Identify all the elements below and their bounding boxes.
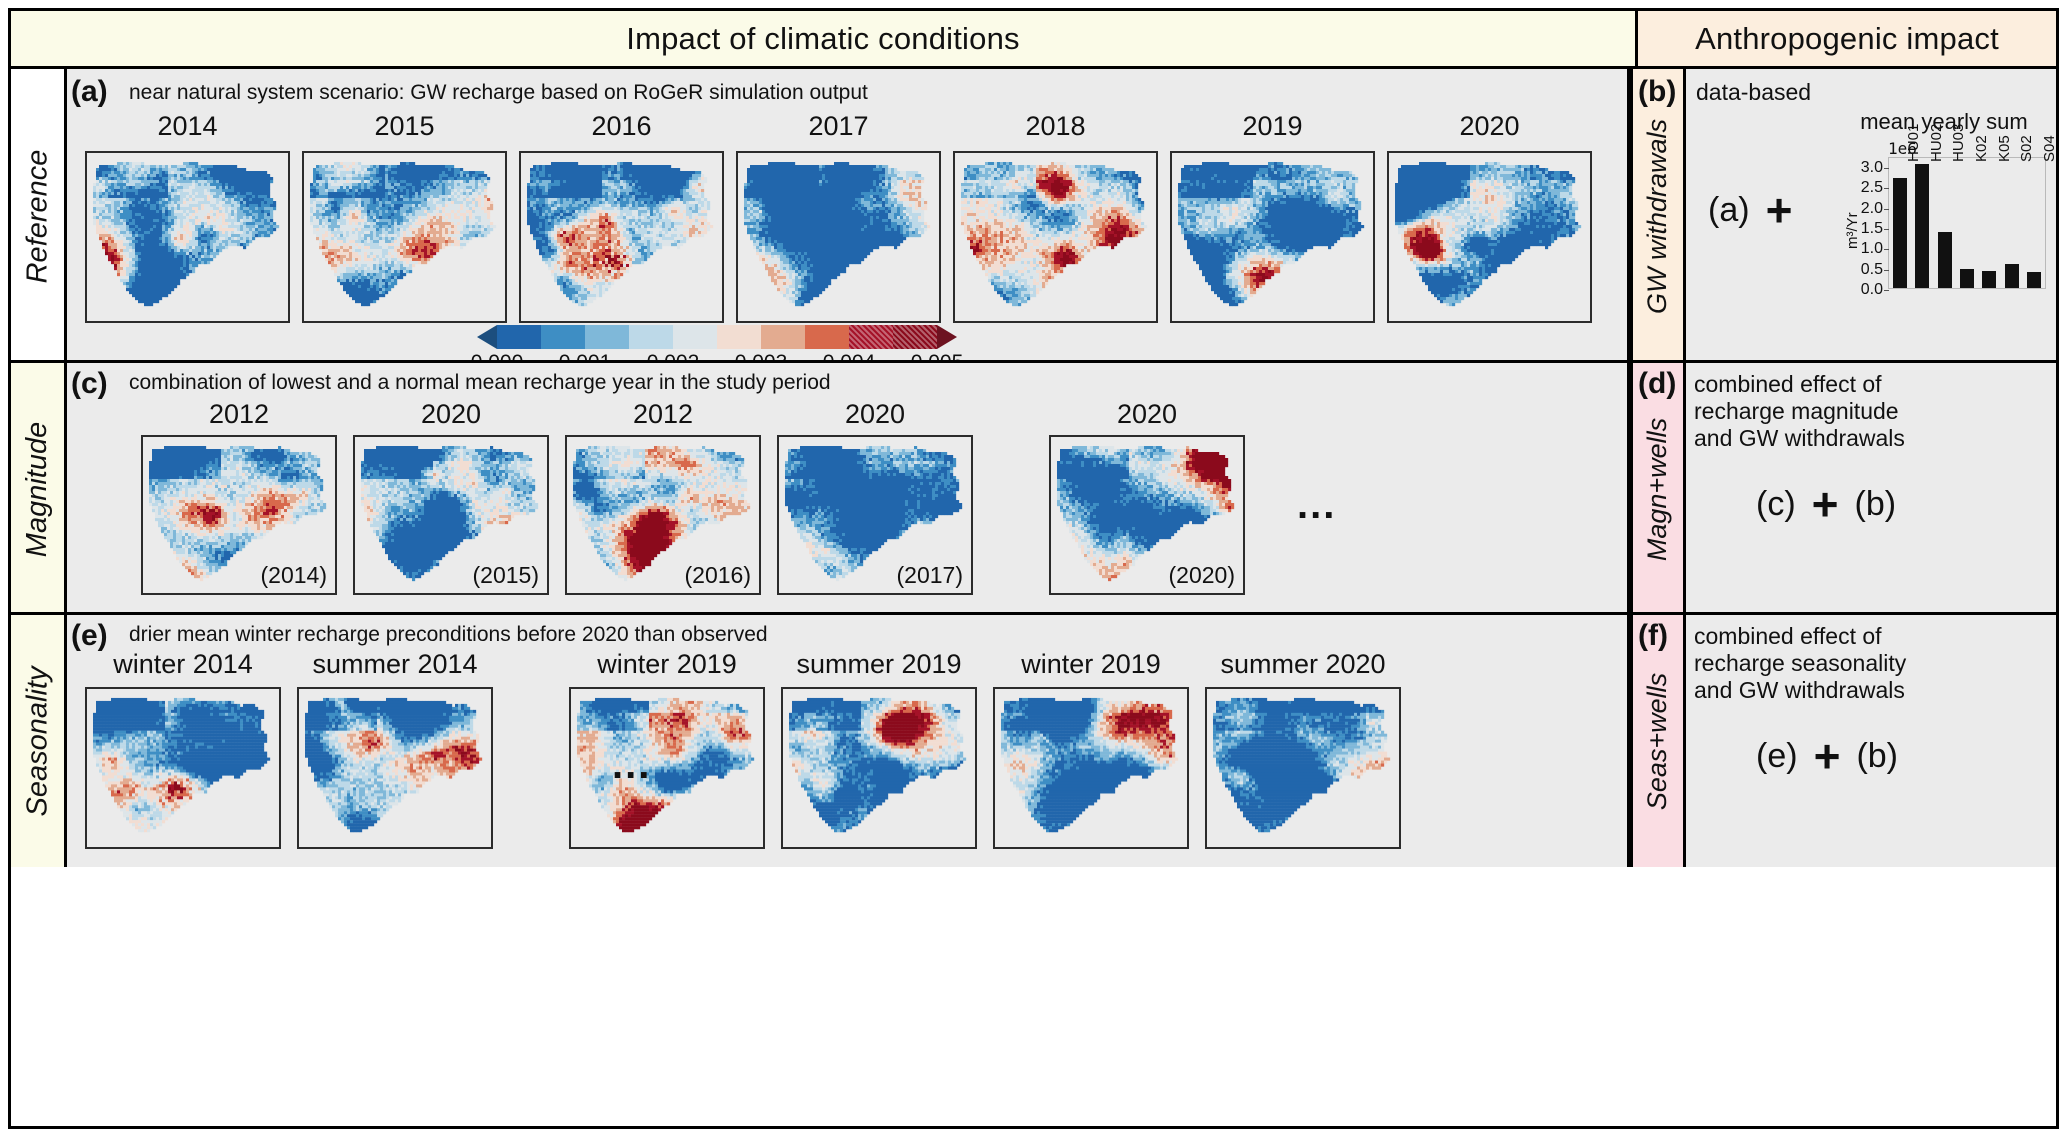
map-plot-area	[297, 687, 493, 849]
bar-chart-x-tick-label: HU03	[1950, 124, 1967, 162]
plus-icon: +	[1814, 733, 1841, 779]
panel-f-pane: (f) combined effect of recharge seasonal…	[1686, 615, 2056, 867]
map-tile-title: 2020	[353, 399, 549, 430]
axis-tick	[669, 593, 671, 595]
axis-tick	[499, 321, 501, 323]
recharge-raster	[955, 153, 1156, 321]
map-plot-area	[781, 687, 977, 849]
axis-tick	[541, 593, 543, 595]
header-climatic-title: Impact of climatic conditions	[626, 21, 1019, 57]
axis-tick	[1062, 321, 1064, 323]
bar-chart-y-axis-label: m³/Yr	[1844, 212, 1861, 249]
row-label-seasonality-text: Seasonality	[21, 666, 54, 816]
axis-tick	[1496, 321, 1498, 323]
axis-tick	[1067, 593, 1069, 595]
recharge-raster	[87, 689, 279, 847]
axis-tick	[757, 847, 759, 849]
bar-chart-y-tick-mark	[1884, 290, 1889, 291]
plus-icon: +	[1812, 481, 1839, 527]
map-tile: 2020(2020)	[1049, 399, 1245, 595]
axis-tick	[159, 593, 161, 595]
map-tile: 2015	[302, 111, 507, 323]
axis-tick	[371, 593, 373, 595]
axis-tick	[329, 593, 331, 595]
panel-f-caption: combined effect of recharge seasonality …	[1694, 623, 1906, 704]
panel-tag-d: (d)	[1638, 367, 1676, 401]
axis-tick	[1181, 847, 1183, 849]
panel-tag-e: (e)	[71, 619, 108, 653]
panel-b-caption: data-based	[1696, 79, 1811, 106]
axis-tick	[282, 321, 284, 323]
figure-root: Impact of climatic conditions Anthropoge…	[0, 0, 2067, 1137]
row-label-gw-withdrawals-text: GW withdrawals	[1643, 118, 1674, 313]
axis-tick	[194, 321, 196, 323]
axis-tick	[1237, 593, 1239, 595]
row-magnitude: Magnitude (c) combination of lowest and …	[11, 363, 2056, 615]
map-plot-area: (2020)	[1049, 435, 1245, 595]
map-tile: 2020	[1387, 111, 1592, 323]
recharge-raster	[304, 153, 505, 321]
panel-f-equation: (e) + (b)	[1756, 733, 1898, 779]
axis-tick	[1150, 321, 1152, 323]
panel-b-equation-left: (a)	[1708, 191, 1750, 230]
map-plot-area	[1205, 687, 1401, 849]
header-anthropogenic: Anthropogenic impact	[1635, 11, 2056, 69]
colorbar-segment	[893, 325, 937, 349]
bar-chart-bar	[2005, 264, 2019, 288]
map-tile: 2012(2014)	[141, 399, 337, 595]
map-tile-sublabel: (2017)	[897, 562, 963, 589]
axis-tick	[457, 593, 459, 595]
header-band: Impact of climatic conditions Anthropoge…	[11, 11, 2056, 69]
map-tile-title: winter 2019	[993, 649, 1189, 680]
panel-tag-c: (c)	[71, 367, 108, 401]
colorbar-segment	[541, 325, 585, 349]
magnitude-maps-pane: (c) combination of lowest and a normal m…	[67, 363, 1630, 615]
axis-tick	[753, 593, 755, 595]
axis-tick	[799, 847, 801, 849]
panel-f-equation-right: (b)	[1856, 737, 1898, 776]
map-tile: 2017	[736, 111, 941, 323]
map-tile-sublabel: (2014)	[261, 562, 327, 589]
axis-tick	[587, 847, 589, 849]
axis-tick	[969, 847, 971, 849]
map-plot-area	[302, 151, 507, 323]
row-label-gw-withdrawals: GW withdrawals	[1630, 69, 1686, 363]
panel-b-pane: (b) data-based (a) + mean yearly sum1e6m…	[1686, 69, 2056, 363]
colorbar-segment	[585, 325, 629, 349]
colorbar-extend-high	[937, 325, 957, 349]
map-tile-title: summer 2019	[781, 649, 977, 680]
map-tile-sublabel: (2016)	[685, 562, 751, 589]
bar-chart-x-tick-label: S04	[2041, 135, 2058, 162]
bar-chart-x-tick-label: K05	[1996, 135, 2013, 162]
map-tile-title: 2016	[519, 111, 724, 142]
axis-tick	[1153, 593, 1155, 595]
colorbar-extend-low	[477, 325, 497, 349]
axis-tick	[245, 593, 247, 595]
panel-d-equation-left: (c)	[1756, 485, 1796, 524]
colorbar-segment	[629, 325, 673, 349]
recharge-raster	[1172, 153, 1373, 321]
magnitude-ellipsis: ...	[1297, 483, 1336, 528]
map-tile: winter 2019	[993, 649, 1189, 849]
map-plot-area	[519, 151, 724, 323]
axis-tick	[1223, 847, 1225, 849]
panel-c-caption: combination of lowest and a normal mean …	[129, 371, 831, 395]
map-tile: summer 2014	[297, 649, 493, 849]
map-plot-area	[85, 151, 290, 323]
panel-tag-f: (f)	[1638, 619, 1668, 653]
panel-d-equation-right: (b)	[1855, 485, 1897, 524]
map-tile-title: 2014	[85, 111, 290, 142]
recharge-raster	[87, 153, 288, 321]
colorbar-segment	[805, 325, 849, 349]
axis-tick	[401, 847, 403, 849]
bar-chart-bar	[1915, 164, 1929, 288]
colorbar-segment	[761, 325, 805, 349]
recharge-raster	[738, 153, 939, 321]
map-tile: 2016	[519, 111, 724, 323]
map-plot-area	[953, 151, 1158, 323]
axis-tick	[485, 847, 487, 849]
bar-chart-bars	[1889, 158, 2045, 288]
map-tile: winter 2014	[85, 649, 281, 849]
panel-d-pane: (d) combined effect of recharge magnitud…	[1686, 363, 2056, 615]
map-tile: summer 2020	[1205, 649, 1401, 849]
map-plot-area	[85, 687, 281, 849]
map-tile-title: winter 2014	[85, 649, 281, 680]
panel-a-caption: near natural system scenario: GW recharg…	[129, 81, 868, 105]
axis-tick	[754, 321, 756, 323]
map-tile-title: 2018	[953, 111, 1158, 142]
map-tile: 2020(2015)	[353, 399, 549, 595]
map-plot-area: (2015)	[353, 435, 549, 595]
axis-tick	[189, 847, 191, 849]
bar-chart-x-tick-label: HU02	[1928, 124, 1945, 162]
axis-tick	[103, 321, 105, 323]
map-plot-area	[993, 687, 1189, 849]
panel-e-caption: drier mean winter recharge preconditions…	[129, 623, 768, 647]
recharge-raster	[299, 689, 491, 847]
colorbar-segment	[849, 325, 893, 349]
map-plot-area	[1387, 151, 1592, 323]
map-tile: 2019	[1170, 111, 1375, 323]
axis-tick	[1393, 847, 1395, 849]
map-tile-sublabel: (2015)	[473, 562, 539, 589]
row-label-magn-wells-text: Magn+wells	[1643, 417, 1674, 560]
axis-tick	[1188, 321, 1190, 323]
panel-tag-b: (b)	[1638, 75, 1676, 109]
axis-tick	[537, 321, 539, 323]
row-label-magnitude-text: Magnitude	[21, 421, 54, 556]
recharge-raster	[783, 689, 975, 847]
map-tile-title: 2020	[1387, 111, 1592, 142]
map-tile-title: 2020	[1049, 399, 1245, 430]
axis-tick	[273, 847, 275, 849]
bar-chart-bar	[2027, 272, 2041, 288]
map-tile-title: summer 2020	[1205, 649, 1401, 680]
axis-tick	[411, 321, 413, 323]
bar-chart-x-tick-label: S02	[2018, 135, 2035, 162]
colorbar-segment	[717, 325, 761, 349]
axis-tick	[716, 321, 718, 323]
axis-tick	[885, 847, 887, 849]
colorbar-segment	[673, 325, 717, 349]
map-tile-sublabel: (2020)	[1169, 562, 1235, 589]
bar-chart-plot-area: 0.00.51.01.52.02.53.0HU01HU02HU03K02K05S…	[1888, 157, 2046, 289]
row-seasonality: Seasonality (e) drier mean winter rechar…	[11, 615, 2056, 867]
axis-tick	[965, 593, 967, 595]
recharge-raster	[1389, 153, 1590, 321]
bar-chart-x-tick-label: HU01	[1905, 124, 1922, 162]
bar-chart-bar	[1982, 271, 1996, 288]
axis-tick	[1309, 847, 1311, 849]
map-plot-area: (2016)	[565, 435, 761, 595]
axis-tick	[971, 321, 973, 323]
map-tile: 2018	[953, 111, 1158, 323]
map-tile-title: 2019	[1170, 111, 1375, 142]
map-tile-title: 2012	[141, 399, 337, 430]
seasonality-maps-pane: (e) drier mean winter recharge precondit…	[67, 615, 1630, 867]
figure-frame: Impact of climatic conditions Anthropoge…	[8, 8, 2059, 1129]
panel-d-equation: (c) + (b)	[1756, 481, 1896, 527]
colorbar-gradient	[497, 325, 937, 349]
header-climatic: Impact of climatic conditions	[11, 11, 1635, 69]
map-tile: 2014	[85, 111, 290, 323]
axis-tick	[1011, 847, 1013, 849]
bar-chart-bar	[1960, 269, 1974, 288]
row-label-reference-text: Reference	[21, 149, 54, 283]
map-tile-title: 2012	[565, 399, 761, 430]
axis-tick	[1097, 847, 1099, 849]
row-label-seasonality: Seasonality	[11, 615, 67, 867]
map-tile: winter 2019	[569, 649, 765, 849]
axis-tick	[845, 321, 847, 323]
bar-chart-x-tick-label: K02	[1973, 135, 1990, 162]
seasonality-ellipsis: ...	[612, 743, 651, 788]
axis-tick	[1405, 321, 1407, 323]
recharge-raster	[995, 689, 1187, 847]
panel-f-equation-left: (e)	[1756, 737, 1798, 776]
axis-tick	[1279, 321, 1281, 323]
bar-chart-bar	[1938, 232, 1952, 288]
map-plot-area: (2017)	[777, 435, 973, 595]
map-tile: summer 2019	[781, 649, 977, 849]
row-label-magnitude: Magnitude	[11, 363, 67, 615]
panel-b-equation: (a) +	[1708, 187, 1792, 233]
axis-tick	[628, 321, 630, 323]
row-reference: Reference (a) near natural system scenar…	[11, 69, 2056, 363]
panel-d-caption: combined effect of recharge magnitude an…	[1694, 371, 1905, 452]
row-label-reference: Reference	[11, 69, 67, 363]
axis-tick	[1367, 321, 1369, 323]
gw-withdrawals-bar-chart: mean yearly sum1e6m³/Yr0.00.51.01.52.02.…	[1836, 109, 2052, 349]
map-plot-area: (2014)	[141, 435, 337, 595]
recharge-raster	[521, 153, 722, 321]
header-anthropogenic-title: Anthropogenic impact	[1695, 21, 1999, 57]
axis-tick	[933, 321, 935, 323]
map-tile: 2020(2017)	[777, 399, 973, 595]
axis-tick	[320, 321, 322, 323]
map-tile-title: summer 2014	[297, 649, 493, 680]
reference-maps-pane: (a) near natural system scenario: GW rec…	[67, 69, 1630, 363]
map-tile-title: 2020	[777, 399, 973, 430]
row-label-seas-wells-text: Seas+wells	[1643, 672, 1674, 809]
map-tile: 2012(2016)	[565, 399, 761, 595]
recharge-raster	[571, 689, 763, 847]
panel-tag-a: (a)	[71, 75, 108, 109]
map-tile-title: 2015	[302, 111, 507, 142]
colorbar-segment	[497, 325, 541, 349]
axis-tick	[103, 847, 105, 849]
recharge-raster	[1207, 689, 1399, 847]
axis-tick	[673, 847, 675, 849]
axis-tick	[315, 847, 317, 849]
map-plot-area	[569, 687, 765, 849]
bar-chart-bar	[1893, 178, 1907, 288]
map-tile-title: winter 2019	[569, 649, 765, 680]
map-plot-area	[1170, 151, 1375, 323]
axis-tick	[1584, 321, 1586, 323]
axis-tick	[881, 593, 883, 595]
map-plot-area	[736, 151, 941, 323]
axis-tick	[583, 593, 585, 595]
map-tile-title: 2017	[736, 111, 941, 142]
plus-icon: +	[1766, 187, 1793, 233]
axis-tick	[795, 593, 797, 595]
